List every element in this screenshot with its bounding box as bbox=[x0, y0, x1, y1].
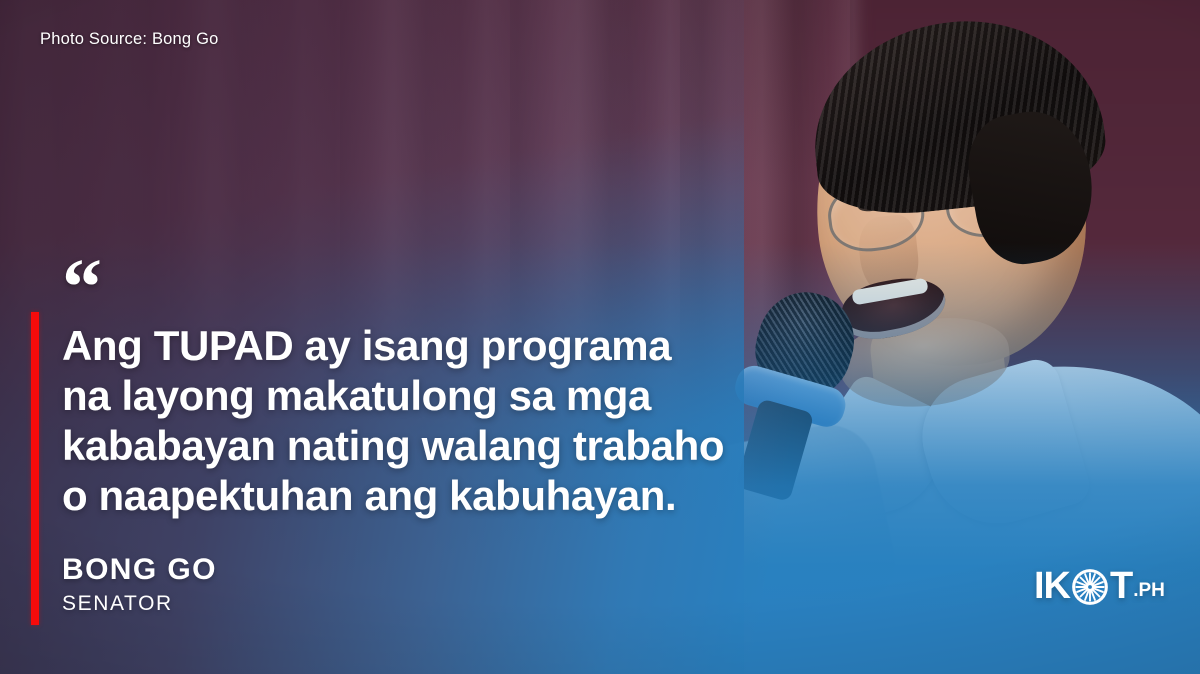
quote-line: kababayan nating walang trabaho bbox=[62, 421, 862, 471]
red-accent-bar bbox=[31, 312, 39, 625]
quote-text: Ang TUPAD ay isang programa na layong ma… bbox=[62, 321, 862, 521]
speaker-name: BONG GO bbox=[62, 553, 217, 587]
ikot-ph-logo[interactable]: IK bbox=[1034, 565, 1165, 608]
open-quote-mark: “ bbox=[62, 248, 100, 328]
logo-prefix: IK bbox=[1034, 565, 1070, 608]
photo-source-credit: Photo Source: Bong Go bbox=[40, 30, 218, 49]
attribution: BONG GO SENATOR bbox=[62, 553, 217, 618]
quote-line: o naapektuhan ang kabuhayan. bbox=[62, 471, 862, 521]
quote-line: na layong makatulong sa mga bbox=[62, 371, 862, 421]
logo-domain: .PH bbox=[1133, 580, 1165, 608]
quote-card: Photo Source: Bong Go “ Ang TUPAD ay isa… bbox=[0, 0, 1200, 674]
logo-suffix: T bbox=[1110, 565, 1132, 608]
wheel-icon bbox=[1071, 568, 1109, 606]
speaker-role: SENATOR bbox=[62, 590, 217, 618]
quote-line: Ang TUPAD ay isang programa bbox=[62, 321, 862, 371]
